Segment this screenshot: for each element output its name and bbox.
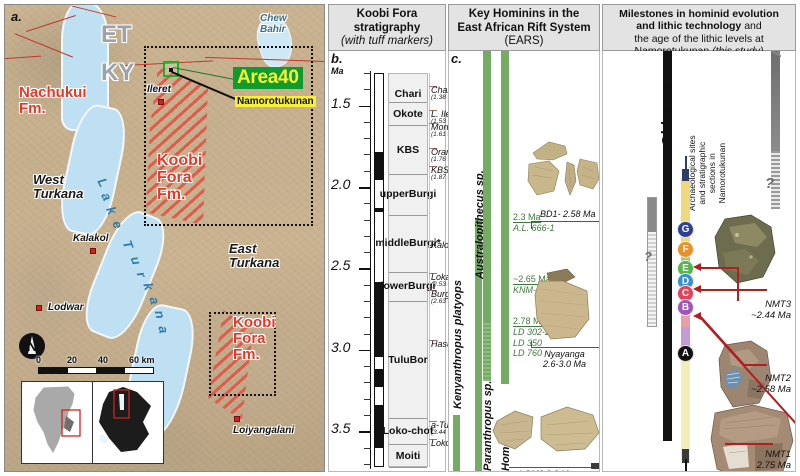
polarity-band [375,152,383,180]
artifact-label-nyayanga: Nyayanga 2.6-3.0 Ma [543,349,586,369]
nyayanga-certain-segment [648,198,656,232]
fossil-spec-0: A.L. 666-1 [513,223,555,233]
town-marker-ileret [158,99,164,105]
axis-tick [364,285,371,286]
scalebar-tick-40: 40 [98,355,108,365]
milestones-header-l2: and lithic technology [636,20,741,32]
inset-kenya [92,382,164,463]
member-band[interactable]: Loko-chot [389,419,427,445]
strat-header-sub: (with tuff markers) [329,35,445,49]
town-label-kalakol: Kalakol [73,233,109,244]
axis-tick [364,171,371,172]
axis-tick [364,464,371,465]
axis-tick-label: 3.5 [331,420,350,436]
artifact-nyayanga-core [533,267,593,347]
member-band[interactable]: KBS [389,126,427,175]
strat-header-title: Koobi Fora [329,8,445,22]
member-band[interactable]: Moiti [389,445,427,468]
axis-tick [364,236,371,237]
axis-unit-label: Ma [331,66,344,76]
magnetostratigraphy-column [374,73,384,467]
town-marker-loiyangalani [234,416,240,422]
artifact-label-bd1: BD1- 2.58 Ma [540,209,596,219]
arrow-nmt2-h [743,364,767,366]
acheulean-range-bar [771,51,780,151]
town-label-loiyangalani: Loiyangalani [233,425,294,436]
artifact-label-nmt1: NMT1 2.75 Ma [727,449,791,472]
section-label: Archaeological sitesand stratigraphicsec… [687,135,727,211]
level-a-stem [685,459,687,471]
namorotukunan-label: Namorotukunan [235,96,316,107]
arrow-head-nmt3 [693,263,701,271]
arrow-head-nmt2 [693,285,701,293]
artifact-label-nmt3: NMT3 ~2.44 Ma [727,299,791,322]
map-label-nachukui-fm: NachukuiFm. [19,85,87,117]
axis-tick [364,89,371,90]
axis-tick [359,350,371,352]
axis-tick [364,73,371,74]
polarity-band [375,208,383,213]
milestones-header: Milestones in hominid evolution and lith… [602,4,796,51]
lomekwian-scale-block [591,463,600,469]
range-bar-kenyanthropus [453,415,460,471]
nmt2-name: NMT2 [765,373,791,384]
member-band[interactable]: Okote [389,103,427,126]
level-marker-g[interactable]: G [677,221,694,238]
axis-tick [364,252,371,253]
nyayanga-question-mark: ? [644,249,652,264]
axis-tick-label: 1.5 [331,95,350,111]
level-marker-b[interactable]: B [677,299,694,316]
axis-tick [364,382,371,383]
member-band[interactable]: lowerBurgi [389,273,427,302]
range-bar-paranthropus-dashed [483,323,491,381]
member-column: ChariOkoteKBSupperBurgimiddleBurgi*lower… [388,73,428,467]
artifact-label-lom3: LOM3 3.3 Ma [519,469,574,472]
member-band[interactable]: middleBurgi* [389,216,427,273]
hominins-header-l1: Key Hominins in the [449,8,599,22]
inset-africa [22,382,92,463]
axis-tick-label: 2.5 [331,257,350,273]
polarity-band [375,369,383,387]
kenya-silhouette [93,382,165,463]
map-label-kenya: KY [101,59,134,87]
town-label-lodwar: Lodwar [48,302,84,313]
hominins-header-l2: East African Rift System [449,22,599,36]
axis-tick [364,122,371,123]
panel-letter-b: b. [331,51,343,66]
map-label-east-turkana: EastTurkana [229,242,279,269]
arrow-head-nmt2b [693,312,701,320]
strat-panel[interactable]: b. Ma 1.52.02.53.03.5 ChariOkoteKBSupper… [328,51,446,472]
town-marker-lodwar [36,305,42,311]
milestones-header-l2b: and [741,20,761,32]
axis-tick [359,431,371,433]
axis-tick [364,301,371,302]
level-marker-a[interactable]: A [677,345,694,362]
compass-letter: N [27,338,38,355]
compass-north-icon: N [19,333,45,359]
bd1-bracket-top [531,221,600,222]
bd1-bracket-left [531,221,532,229]
artifact-bd1-flakes [527,137,600,207]
nyayanga-bracket-bottom [531,347,600,348]
axis-tick [364,203,371,204]
axis-tick [364,399,371,400]
strat-header-title2: stratigraphy [329,22,445,36]
africa-silhouette [22,382,92,463]
axis-tick [364,317,371,318]
arrow-nmt3-v [737,267,739,301]
arrow-nmt3 [701,267,737,269]
map-scalebar [38,367,154,374]
level-g-stem [685,156,687,172]
axis-tick [364,448,371,449]
milestones-panel[interactable]: d. Oldowan Acheulean ? ? Archaeological … [602,51,796,472]
milestones-header-l2-wrap: and lithic technology and [603,20,795,32]
map-label-chew-bahir: ChewBahir [260,13,287,35]
artifact-nmt3-stone [711,213,779,287]
town-label-ileret: Ileret [147,84,171,95]
member-band[interactable]: upperBurgi [389,175,427,216]
nmt3-name: NMT3 [765,299,791,310]
strat-header: Koobi Fora stratigraphy (with tuff marke… [328,4,446,51]
map-panel[interactable]: ET KY ChewBahir NachukuiFm. KoobiForaFm.… [4,4,325,472]
oldowan-label: Oldowan [659,84,676,147]
map-label-koobi-fora-fm-north: KoobiForaFm. [157,153,202,203]
axis-tick-label: 3.0 [331,339,350,355]
axis-tick [364,138,371,139]
inset-maps [21,381,164,464]
artifact-lomekwian-cores [489,403,600,465]
level-marker-f[interactable]: F [677,241,694,258]
axis-tick [364,154,371,155]
member-band[interactable]: Chari [389,87,427,103]
strat-section-segment-base [681,357,690,463]
acheulean-label: Acheulean [769,51,784,57]
axis-tick-label: 2.0 [331,176,350,192]
nyayanga-name: Nyayanga [544,349,585,359]
scalebar-tick-0: 0 [36,355,41,365]
panel-letter-d: d. [604,51,616,54]
arrow-nmt2 [701,289,767,291]
axis-tick [364,334,371,335]
area40-label: Area40 [233,67,303,89]
map-label-ethiopia: ET [101,21,132,49]
axis-tick [364,220,371,221]
panel-letter-a: a. [11,9,22,24]
axis-tick [359,187,371,189]
nyayanga-age: 2.6-3.0 Ma [543,359,586,369]
axis-tick [364,366,371,367]
scalebar-tick-20: 20 [67,355,77,365]
axis-tick [364,415,371,416]
milestones-header-l1: Milestones in hominid evolution [603,8,795,20]
hominins-header-l3: (EARS) [449,35,599,49]
milestones-header-l3: the age of the lithic levels at [603,33,795,45]
scalebar-tick-60km: 60 km [129,355,155,365]
polarity-band [375,282,383,357]
nmt1-age: 2.75 Ma [757,460,791,471]
lomekwian-scale-line [509,467,600,468]
nmt3-age: ~2.44 Ma [751,310,791,321]
range-bar-homo [501,51,509,384]
hominins-panel[interactable]: c. Kenyanthropus platyops Australopithec… [448,51,600,472]
panel-letter-c: c. [451,51,462,66]
axis-tick [359,268,371,270]
time-axis-line [370,71,371,469]
map-label-west-turkana: WestTurkana [33,173,83,200]
arrow-nmt1-h [725,443,773,445]
hominins-header: Key Hominins in the East African Rift Sy… [448,4,600,51]
member-band[interactable]: TuluBor [389,302,427,419]
axis-tick [359,106,371,108]
town-marker-kalakol [90,248,96,254]
map-label-koobi-fora-fm-south: KoobiForaFm. [233,315,276,362]
nmt1-name: NMT1 [765,449,791,460]
acheulean-question-mark: ? [765,175,774,192]
taxon-label-kenyanthropus: Kenyanthropus platyops [452,280,464,409]
nyayanga-bracket-left [531,341,532,347]
